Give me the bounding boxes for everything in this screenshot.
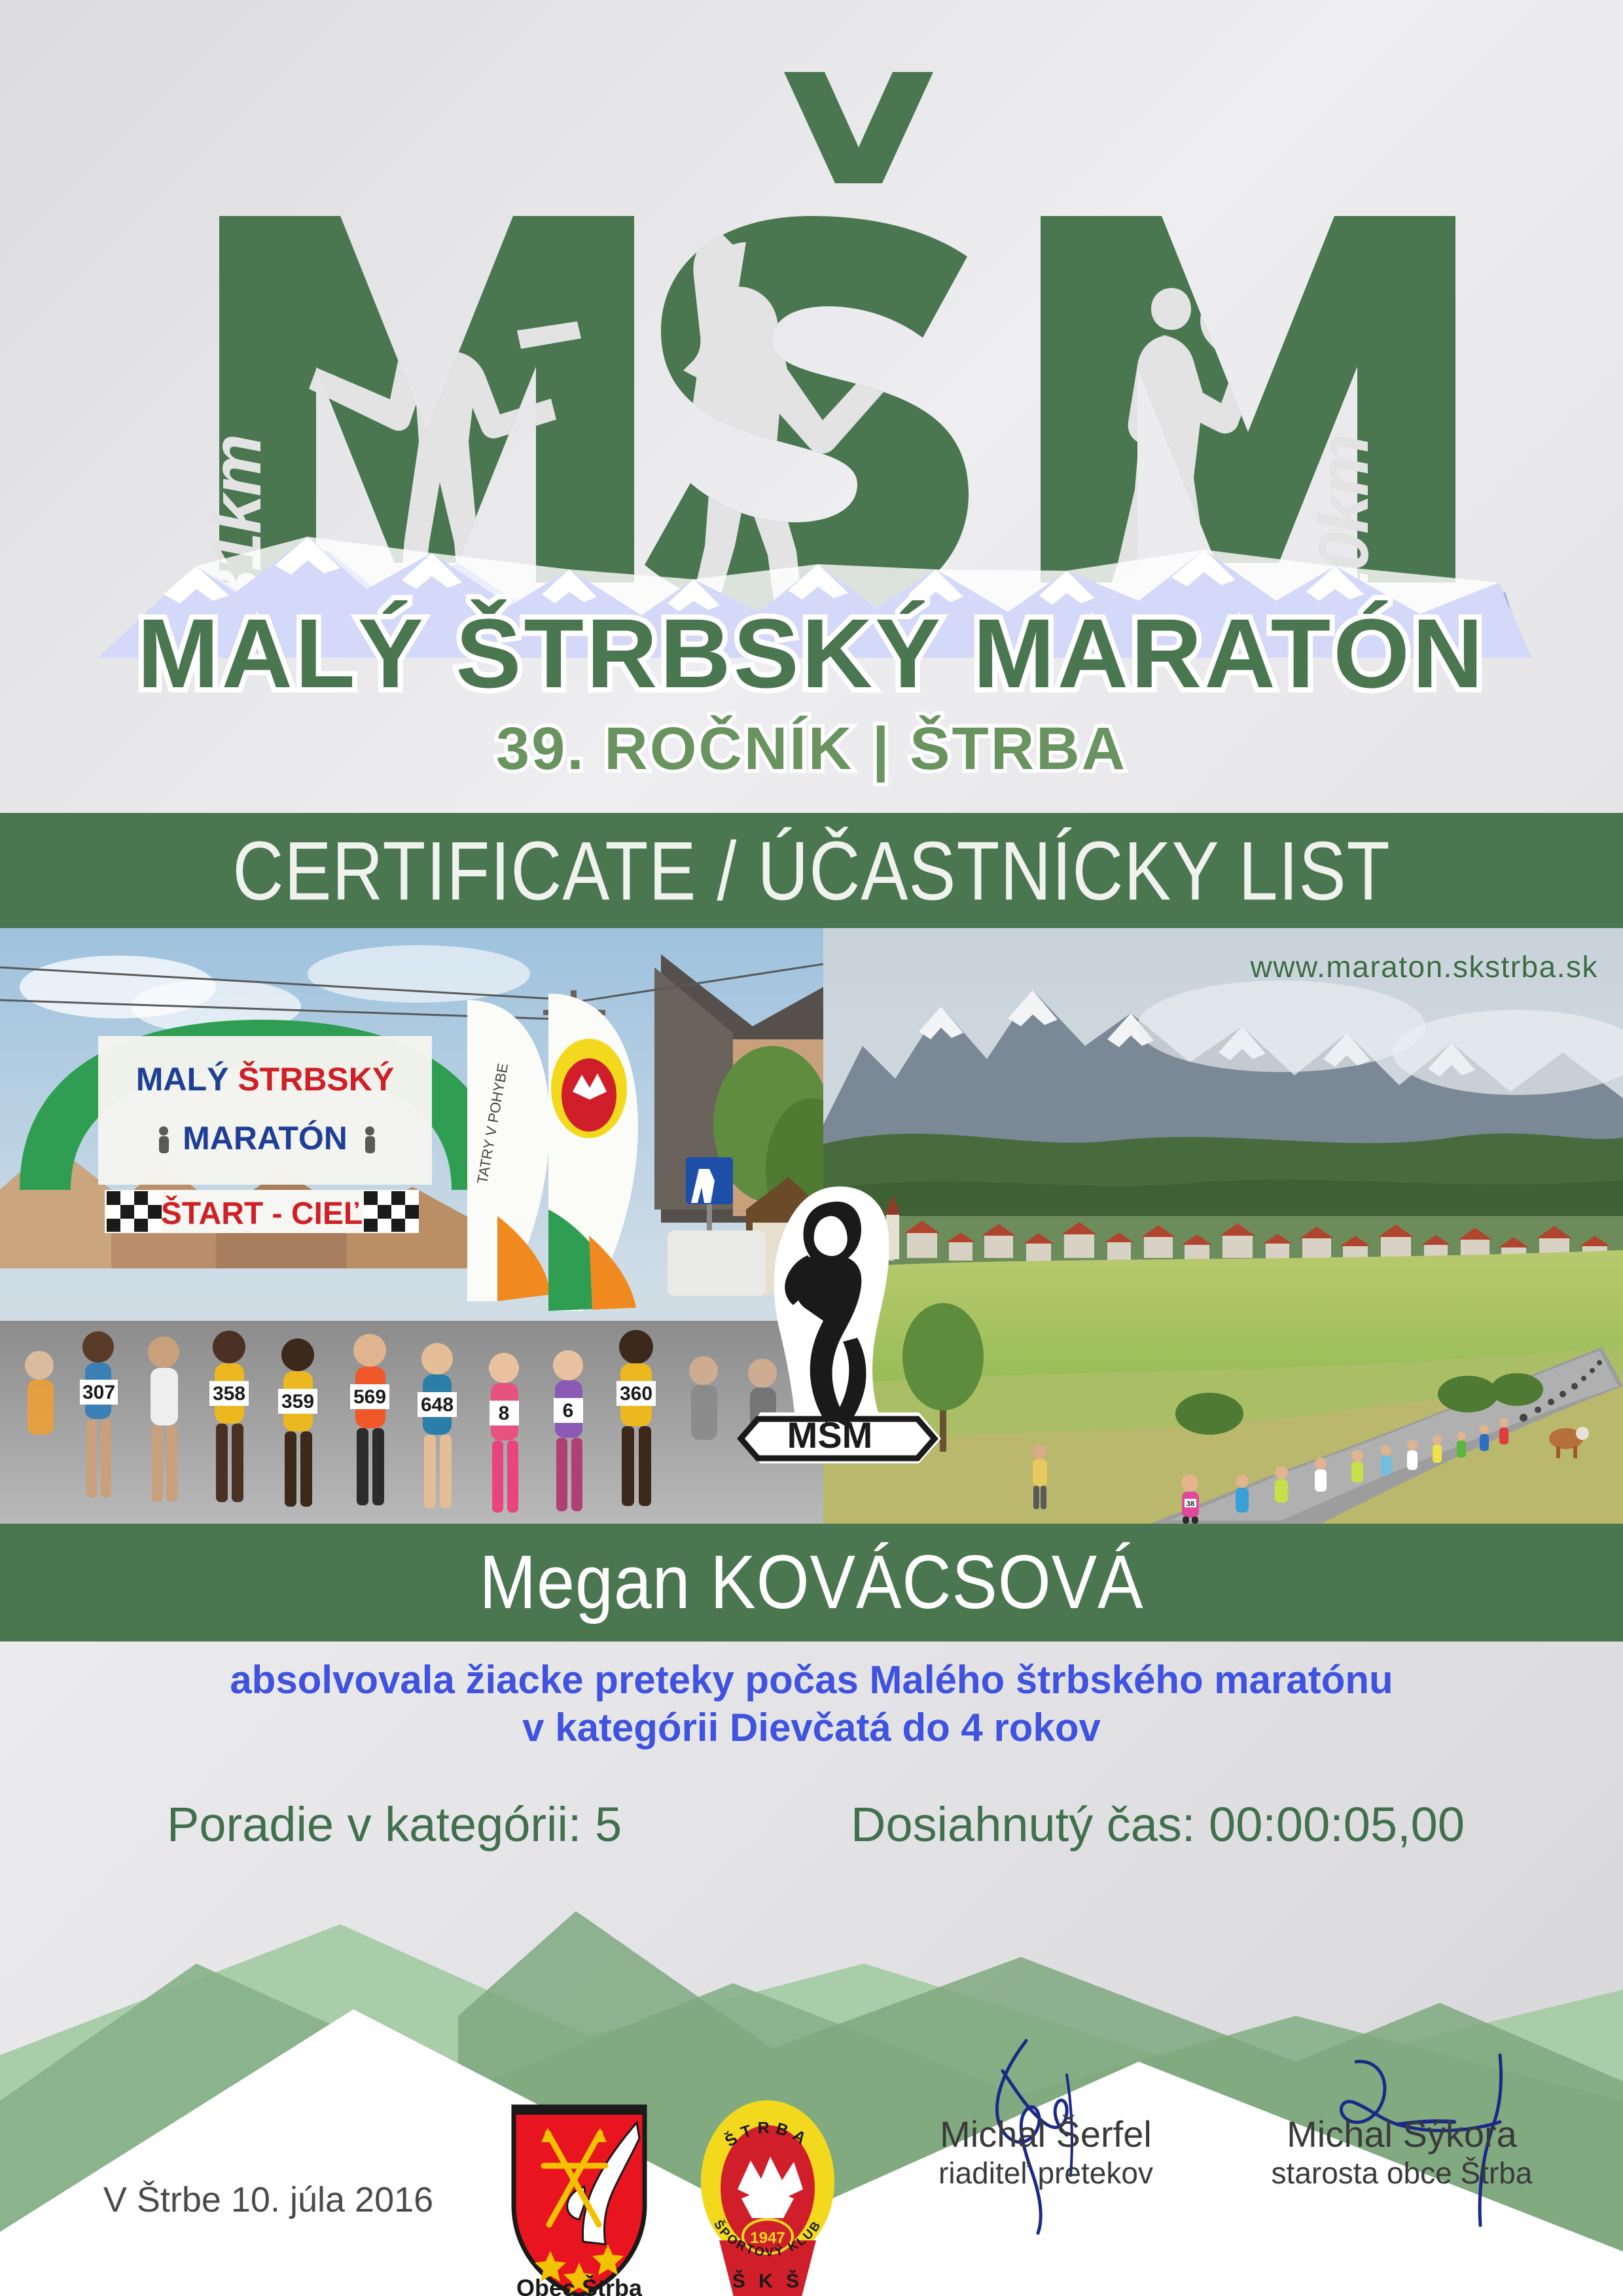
result-time-text: Dosiahnutý čas: 00:00:05,00 xyxy=(851,1797,1465,1852)
bib-number: 648 xyxy=(421,1394,454,1416)
sks-bottom-text: Š K Š xyxy=(732,2270,803,2292)
bib-number: 307 xyxy=(82,1382,115,1403)
bib-number: 38 xyxy=(1186,1500,1194,1508)
certificate-title: CERTIFICATE / ÚČASTNÍCKY LIST xyxy=(232,822,1390,919)
certificate-page: 31km 10km xyxy=(0,0,1623,2296)
description-block: absolvovala žiacke preteky počas Malého … xyxy=(0,1656,1623,1751)
logo-letter-m-right xyxy=(1041,216,1455,583)
athlete-name-band: Megan KOVÁCSOVÁ xyxy=(0,1524,1623,1641)
signature-role: starosta obce Štrba xyxy=(1219,2155,1585,2191)
signature-role: riaditeľ pretekov xyxy=(863,2155,1229,2191)
signature-block-director: Michal Šerfel riaditeľ pretekov xyxy=(863,2114,1229,2191)
msm-runner-sticker: MŠM xyxy=(732,1178,948,1518)
certificate-title-band: CERTIFICATE / ÚČASTNÍCKY LIST xyxy=(0,813,1623,928)
event-title: MALÝ ŠTRBSKÝ MARATÓN xyxy=(137,598,1486,708)
result-rank-text: Poradie v kategórii: 5 xyxy=(167,1797,622,1852)
obec-strba-crest xyxy=(507,2103,651,2296)
bib-number: 360 xyxy=(620,1383,652,1405)
event-subtitle: 39. ROČNÍK | ŠTRBA xyxy=(496,715,1127,783)
foreground-runner: 38 xyxy=(1181,1475,1199,1524)
description-line-1: absolvovala žiacke preteky počas Malého … xyxy=(0,1656,1623,1704)
sks-year: 1947 xyxy=(750,2229,785,2247)
logo-graphic: 31km 10km xyxy=(0,0,1623,812)
photo-race-start: MALÝ ŠTRBSKÝ MARATÓN xyxy=(0,928,823,1524)
arch-title-line2: MARATÓN xyxy=(183,1120,348,1157)
sks-club-emblem: 1947 ŠTRBA ŠPORTOVÝ KLUB Š K Š xyxy=(696,2098,840,2296)
bib-number: 6 xyxy=(563,1400,574,1422)
issue-date: V Štrbe 10. júla 2016 xyxy=(65,2179,471,2220)
bib-number: 569 xyxy=(353,1386,386,1408)
obec-strba-crest-label: Obec Štrba xyxy=(494,2274,664,2296)
arch-title-line1: MALÝ ŠTRBSKÝ xyxy=(136,1060,394,1098)
signature-block-mayor: Michal Sýkora starosta obce Štrba xyxy=(1219,2114,1585,2191)
bib-number: 359 xyxy=(281,1391,314,1412)
description-line-2: v kategórii Dievčatá do 4 rokov xyxy=(0,1704,1623,1751)
caron-accent-icon xyxy=(784,72,933,183)
website-url: www.maraton.skstrba.sk xyxy=(1251,949,1598,984)
signature-name: Michal Šerfel xyxy=(863,2114,1229,2155)
event-logo-block: 31km 10km xyxy=(0,0,1623,812)
result-rank-cell: Poradie v kategórii: 5 xyxy=(0,1797,851,1852)
results-row: Poradie v kategórii: 5 Dosiahnutý čas: 0… xyxy=(0,1797,1623,1852)
bib-number: 8 xyxy=(499,1403,510,1424)
arch-banner-text: ŠTART - CIEĽ xyxy=(161,1195,363,1231)
footer: V Štrbe 10. júla 2016 Obec Štrba xyxy=(0,1996,1623,2296)
bib-number: 358 xyxy=(213,1383,245,1405)
athlete-name: Megan KOVÁCSOVÁ xyxy=(480,1539,1144,1626)
sticker-label: MŠM xyxy=(787,1414,873,1456)
result-time-cell: Dosiahnutý čas: 00:00:05,00 xyxy=(851,1797,1623,1852)
signature-name: Michal Sýkora xyxy=(1219,2114,1585,2155)
